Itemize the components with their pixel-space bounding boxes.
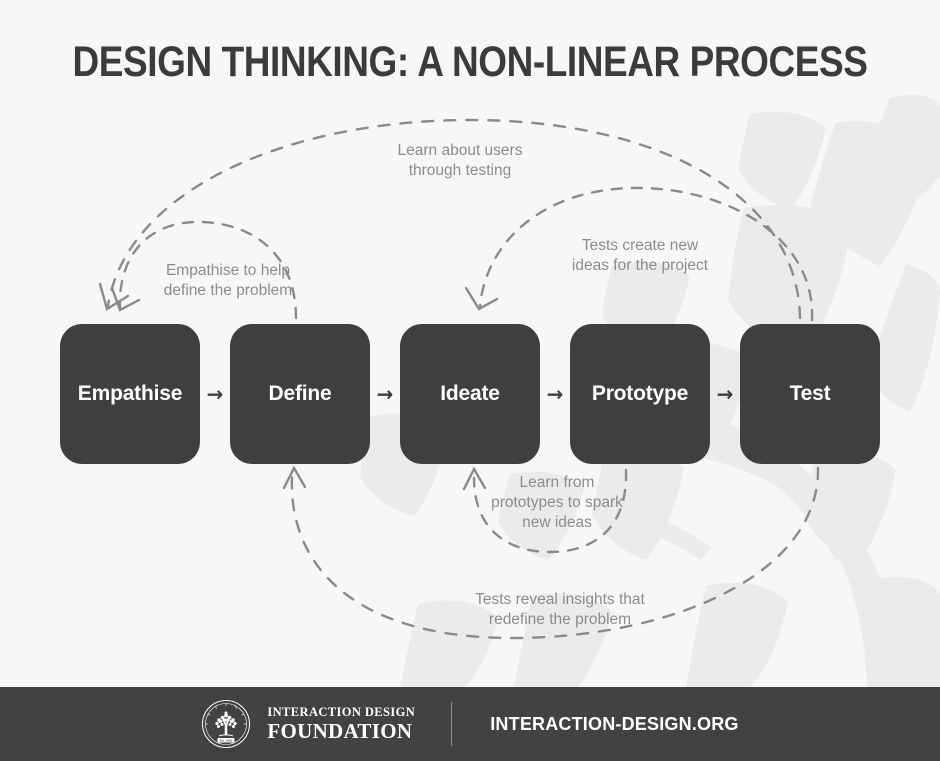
footer-divider — [451, 702, 452, 746]
stage-label: Empathise — [78, 382, 182, 406]
page-title: DESIGN THINKING: A NON-LINEAR PROCESS — [66, 38, 874, 87]
annotation-tests-create-new-ideas: Tests create new ideas for the project — [540, 236, 740, 276]
stage-label: Test — [790, 382, 831, 406]
stage-box-define[interactable]: Define — [230, 324, 370, 464]
stage-label: Prototype — [592, 382, 688, 406]
connector-arrow-2: → — [370, 380, 400, 408]
idf-wordmark: INTERACTION DESIGN FOUNDATION — [267, 706, 415, 742]
stage-label: Ideate — [440, 382, 500, 406]
arrowhead-define-bottom — [284, 468, 305, 488]
annotation-tests-reveal-insights: Tests reveal insights that redefine the … — [440, 590, 680, 630]
brand-line-interaction-design: INTERACTION DESIGN — [267, 706, 415, 719]
connector-arrow-3: → — [540, 380, 570, 408]
brand-line-foundation: FOUNDATION — [267, 721, 415, 742]
idf-tree-emblem-icon: Est. 2002 — [201, 699, 251, 749]
arrowhead-empathise-outer — [100, 284, 128, 309]
connector-arrow-1: → — [200, 380, 230, 408]
annotation-learn-about-users: Learn about users through testing — [360, 141, 560, 181]
arrowhead-ideate-top — [466, 288, 497, 309]
footer-website-url[interactable]: INTERACTION-DESIGN.ORG — [490, 714, 738, 735]
infographic-canvas: DESIGN THINKING: A NON-LINEAR PROCESS Em… — [0, 0, 940, 761]
stage-label: Define — [269, 382, 332, 406]
annotation-empathise-to-help-define: Empathise to help define the problem — [128, 261, 328, 301]
footer-bar: Est. 2002 INTERACTION DESIGN FOUNDATION … — [0, 687, 940, 761]
stage-box-ideate[interactable]: Ideate — [400, 324, 540, 464]
annotation-learn-from-prototypes: Learn from prototypes to spark new ideas — [467, 473, 647, 533]
footer-content: Est. 2002 INTERACTION DESIGN FOUNDATION … — [201, 699, 738, 749]
emblem-est-label: Est. 2002 — [220, 739, 233, 743]
stage-box-empathise[interactable]: Empathise — [60, 324, 200, 464]
stage-box-test[interactable]: Test — [740, 324, 880, 464]
stage-box-prototype[interactable]: Prototype — [570, 324, 710, 464]
connector-arrow-4: → — [710, 380, 740, 408]
